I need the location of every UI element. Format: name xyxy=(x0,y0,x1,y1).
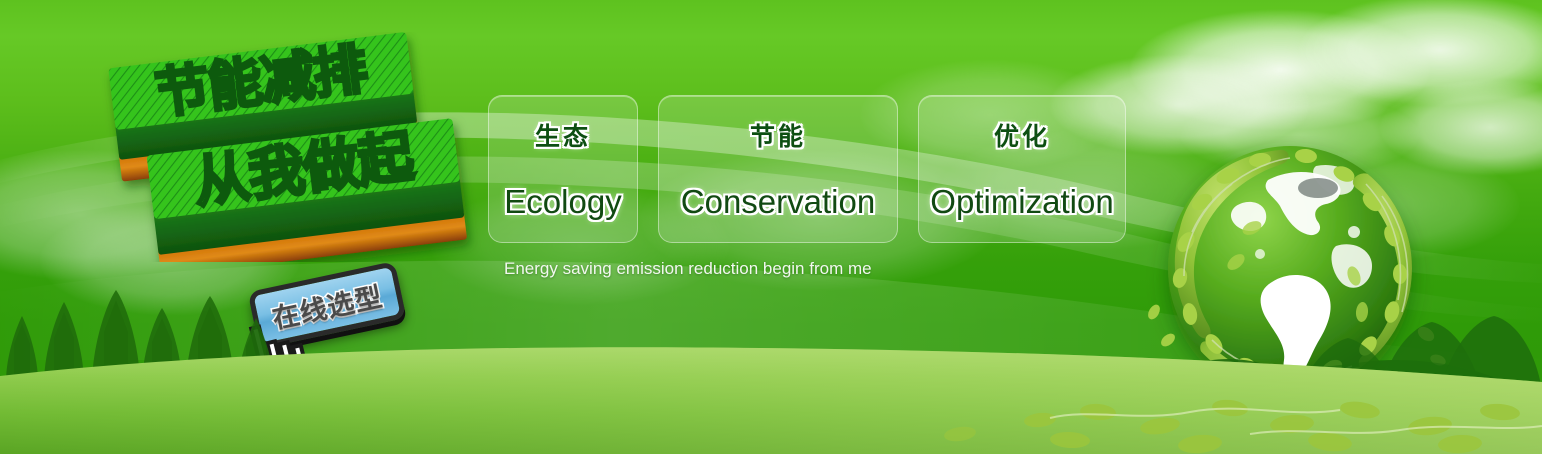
cloud-decoration xyxy=(1130,10,1430,130)
feature-card-en-label: Conservation xyxy=(681,183,875,221)
feature-card-list: 生态 Ecology 节能 Conservation 优化 Optimizati… xyxy=(488,95,1126,243)
leaf-covered-globe-icon xyxy=(1140,136,1458,436)
feature-card-cn-label: 优化 xyxy=(994,117,1050,153)
feature-card-en-label: Ecology xyxy=(504,183,621,221)
eco-hero-banner: 节能减排 GREEN 从我做起 在线选型 xyxy=(0,0,1542,454)
feature-card-ecology[interactable]: 生态 Ecology xyxy=(488,95,638,243)
feature-card-optimization[interactable]: 优化 Optimization xyxy=(918,95,1126,243)
feature-card-cn-label: 生态 xyxy=(535,117,591,153)
feature-card-cn-label: 节能 xyxy=(750,117,806,153)
cloud-decoration xyxy=(1300,0,1542,105)
pointing-hand-cursor-icon xyxy=(235,318,313,398)
banner-tagline: Energy saving emission reduction begin f… xyxy=(504,259,872,279)
slogan-3d-artwork: 节能减排 GREEN 从我做起 xyxy=(96,32,486,262)
feature-card-en-label: Optimization xyxy=(930,183,1113,221)
feature-card-conservation[interactable]: 节能 Conservation xyxy=(658,95,898,243)
